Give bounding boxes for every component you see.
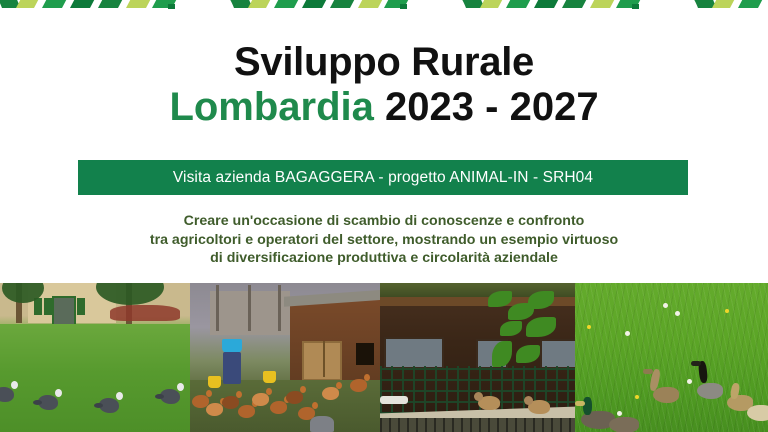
duck-shape (609, 417, 639, 432)
dandelion-shape (587, 325, 591, 329)
title-region-word: Lombardia (169, 85, 373, 129)
guinea-fowl-shape (99, 398, 119, 413)
shutter-shape (77, 298, 85, 315)
shutter-shape (34, 298, 42, 315)
dandelion-shape (635, 395, 639, 399)
photo-ducks-meadow (575, 283, 768, 432)
chicken-shape (322, 387, 339, 400)
chicken-shape (222, 396, 239, 409)
duck-bill-shape (643, 369, 653, 374)
chicken-shape (286, 391, 303, 404)
chicken-shape (252, 393, 269, 406)
bare-tree-shape (278, 285, 281, 331)
leaf-shape (516, 345, 540, 363)
coop-opening-shape (356, 343, 374, 365)
title-year-range: 2023 - 2027 (385, 85, 599, 129)
rabbit-shape (528, 400, 550, 414)
red-foliage-shape (110, 305, 180, 321)
leaf-shape (528, 291, 554, 309)
page-title-line-1: Sviluppo Rurale (0, 40, 768, 84)
bare-tree-shape (216, 285, 219, 331)
chicken-shape (270, 401, 287, 414)
low-fence-shape (380, 418, 575, 432)
mallard-head-shape (583, 397, 592, 415)
duck-shape (697, 383, 723, 399)
blue-bucket-shape (222, 339, 242, 353)
dandelion-shape (625, 331, 630, 336)
barn-window-shape (384, 337, 444, 369)
dandelion-shape (617, 411, 622, 416)
duck-shape (653, 387, 679, 403)
coop-door-shape (302, 341, 342, 381)
photo-strip (0, 283, 768, 432)
subtitle-block: Creare un'occasione di scambio di conosc… (0, 212, 768, 268)
dandelion-shape (675, 311, 680, 316)
chicken-shape (238, 405, 255, 418)
duck-shape (747, 405, 768, 421)
barn-window-shape (540, 339, 575, 369)
blue-barrel-shape (223, 352, 241, 384)
logo-band (0, 0, 768, 26)
guinea-fowl-shape (38, 395, 58, 410)
leaf-shape (492, 341, 512, 367)
door-shape (52, 296, 76, 327)
bare-tree-shape (248, 285, 251, 331)
event-banner-text: Visita azienda BAGAGGERA - progetto ANIM… (173, 169, 593, 187)
photo-guinea-fowl (0, 283, 190, 432)
chicken-shape (350, 379, 367, 392)
yellow-bucket-shape (263, 371, 276, 383)
feeder-shape (310, 416, 334, 432)
regione-lombardia-logo-icon (658, 0, 768, 26)
regione-lombardia-logo-icon (194, 0, 426, 26)
subtitle-line-1: Creare un'occasione di scambio di conosc… (0, 212, 768, 231)
yellow-bucket-shape (208, 376, 221, 388)
grass-field-shape (0, 324, 190, 432)
water-pipe-shape (380, 396, 408, 404)
regione-lombardia-logo-icon (0, 0, 194, 26)
photo-chickens-coop (190, 283, 380, 432)
chicken-shape (206, 403, 223, 416)
leaf-shape (526, 317, 556, 337)
subtitle-line-2: tra agricoltori e operatori del settore,… (0, 231, 768, 250)
subtitle-line-3: di diversificazione produttiva e circola… (0, 249, 768, 268)
page-title-line-2: Lombardia 2023 - 2027 (0, 84, 768, 130)
shutter-shape (44, 298, 52, 315)
guinea-fowl-shape (160, 389, 180, 404)
photo-rabbits-pen (380, 283, 575, 432)
rabbit-shape (478, 396, 500, 410)
coop-door-split-shape (323, 341, 325, 377)
duck-bill-shape (575, 401, 585, 406)
dandelion-shape (725, 309, 729, 313)
dandelion-shape (663, 303, 668, 308)
duck-bill-shape (691, 361, 701, 366)
leaf-shape (500, 321, 522, 336)
title-block: Sviluppo Rurale Lombardia 2023 - 2027 (0, 40, 768, 130)
dandelion-shape (687, 379, 692, 384)
regione-lombardia-logo-icon (426, 0, 658, 26)
event-banner: Visita azienda BAGAGGERA - progetto ANIM… (78, 160, 688, 195)
